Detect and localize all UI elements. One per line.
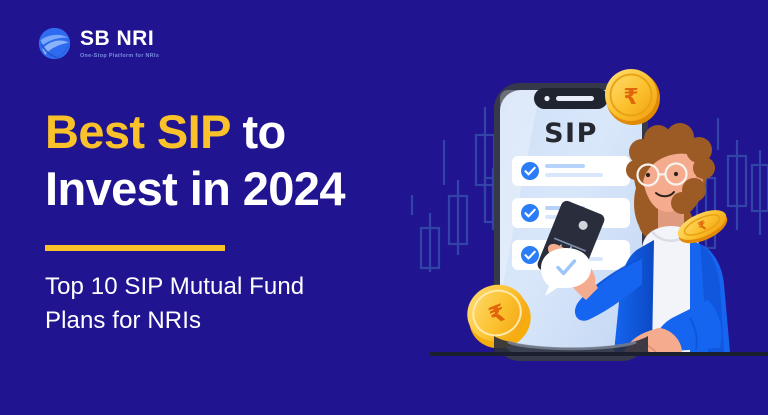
subtitle-line2: Plans for NRIs (45, 304, 304, 338)
list-item[interactable] (512, 156, 630, 186)
sip-promo-banner: SB NRI One-Stop Platform for NRIs Best S… (0, 0, 768, 415)
headline-accent: Best SIP (45, 105, 230, 158)
globe-swirl-icon (38, 27, 71, 60)
page-subtitle: Top 10 SIP Mutual Fund Plans for NRIs (45, 270, 304, 338)
accent-divider (45, 245, 225, 251)
phone-notch (534, 88, 608, 109)
phone-screen-title: SIP (544, 118, 598, 149)
brand-logo[interactable]: SB NRI One-Stop Platform for NRIs (38, 27, 159, 60)
subtitle-line1: Top 10 SIP Mutual Fund (45, 270, 304, 304)
logo-name: SB NRI (80, 28, 159, 50)
desk-edge (430, 352, 768, 356)
illustration: SIP (390, 0, 768, 415)
headline-rest-line1: to (230, 105, 286, 158)
svg-text:₹: ₹ (623, 85, 638, 110)
logo-tagline: One-Stop Platform for NRIs (80, 53, 159, 59)
headline-line2: Invest in 2024 (45, 162, 345, 215)
page-title: Best SIP to Invest in 2024 (45, 103, 345, 218)
